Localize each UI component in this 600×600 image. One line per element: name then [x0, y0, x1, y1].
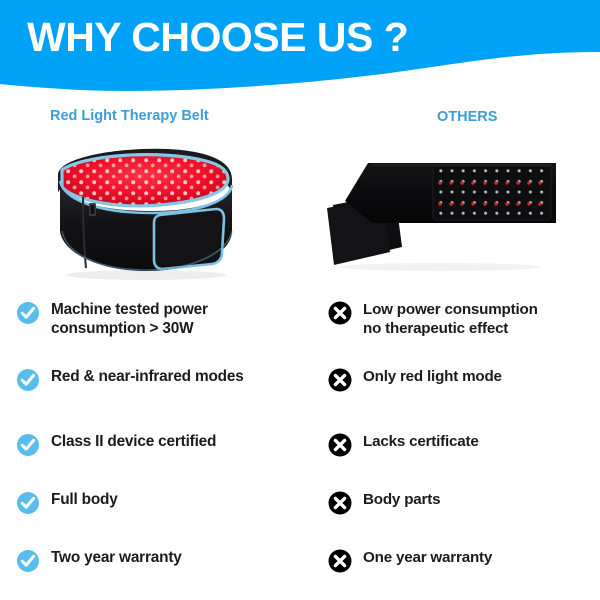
list-item-label: Machine tested power consumption > 30W [51, 300, 208, 338]
cons-list: Low power consumption no therapeutic eff… [328, 300, 600, 584]
list-item: Two year warranty [16, 548, 296, 584]
x-circle-icon [328, 301, 352, 325]
list-item-label: Two year warranty [51, 548, 182, 568]
page-title: WHY CHOOSE US ? [27, 14, 408, 60]
list-item: Only red light mode [328, 367, 600, 403]
check-circle-icon [16, 549, 40, 573]
list-item-label: Lacks certificate [363, 432, 479, 452]
list-item-label: Only red light mode [363, 367, 502, 387]
list-item: Lacks certificate [328, 432, 600, 468]
list-item: Red & near-infrared modes [16, 367, 296, 403]
x-circle-icon [328, 549, 352, 573]
x-circle-icon [328, 491, 352, 515]
list-item: Low power consumption no therapeutic eff… [328, 300, 600, 338]
check-circle-icon [16, 433, 40, 457]
list-item-label: Red & near-infrared modes [51, 367, 244, 387]
column-heading-product: Red Light Therapy Belt [50, 108, 209, 124]
column-heading-others: OTHERS [437, 109, 497, 125]
list-item: Machine tested power consumption > 30W [16, 300, 296, 338]
x-circle-icon [328, 433, 352, 457]
left-product-belt [58, 149, 238, 280]
list-item: Full body [16, 490, 296, 526]
product-illustrations [0, 135, 600, 290]
list-item-label: One year warranty [363, 548, 492, 568]
check-circle-icon [16, 301, 40, 325]
header-banner: WHY CHOOSE US ? [0, 0, 600, 95]
list-item-label: Low power consumption no therapeutic eff… [363, 300, 538, 338]
competitor-led-grid [436, 169, 548, 217]
product-images [0, 135, 600, 290]
comparison-infographic: WHY CHOOSE US ? Red Light Therapy Belt O… [0, 0, 600, 600]
list-item: Body parts [328, 490, 600, 526]
pros-list: Machine tested power consumption > 30W R… [16, 300, 296, 584]
list-item-label: Class II device certified [51, 432, 216, 452]
x-circle-icon [328, 368, 352, 392]
list-item-label: Full body [51, 490, 118, 510]
list-item: One year warranty [328, 548, 600, 584]
check-circle-icon [16, 491, 40, 515]
list-item: Class II device certified [16, 432, 296, 468]
right-product-belt [327, 163, 556, 271]
list-item-label: Body parts [363, 490, 440, 510]
check-circle-icon [16, 368, 40, 392]
